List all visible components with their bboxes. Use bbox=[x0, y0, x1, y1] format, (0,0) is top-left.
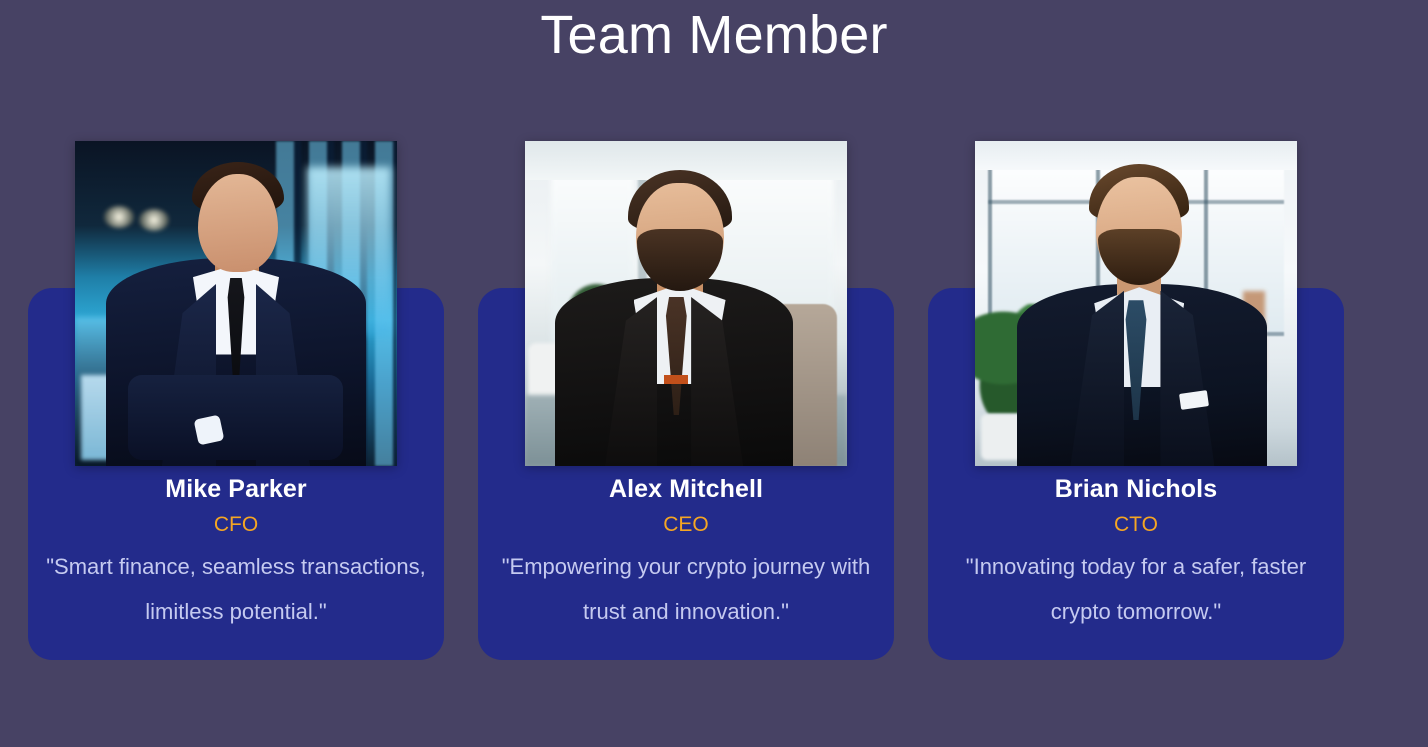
member-photo bbox=[75, 141, 397, 466]
team-member-card[interactable]: Brian Nichols CTO "Innovating today for … bbox=[928, 288, 1344, 660]
member-photo bbox=[525, 141, 847, 466]
member-quote: "Empowering your crypto journey with tru… bbox=[496, 544, 876, 634]
team-member-card[interactable]: Mike Parker CFO "Smart finance, seamless… bbox=[28, 288, 444, 660]
member-role: CFO bbox=[46, 512, 426, 538]
member-name: Mike Parker bbox=[46, 473, 426, 505]
team-member-section: Team Member bbox=[0, 0, 1428, 747]
member-photo bbox=[975, 141, 1297, 466]
team-card-grid: Mike Parker CFO "Smart finance, seamless… bbox=[28, 288, 1344, 660]
member-role: CTO bbox=[946, 512, 1326, 538]
member-quote: "Smart finance, seamless transactions, l… bbox=[46, 544, 426, 634]
member-name: Brian Nichols bbox=[946, 473, 1326, 505]
page-title: Team Member bbox=[0, 2, 1428, 68]
member-name: Alex Mitchell bbox=[496, 473, 876, 505]
member-role: CEO bbox=[496, 512, 876, 538]
member-quote: "Innovating today for a safer, faster cr… bbox=[946, 544, 1326, 634]
team-member-card[interactable]: Alex Mitchell CEO "Empowering your crypt… bbox=[478, 288, 894, 660]
